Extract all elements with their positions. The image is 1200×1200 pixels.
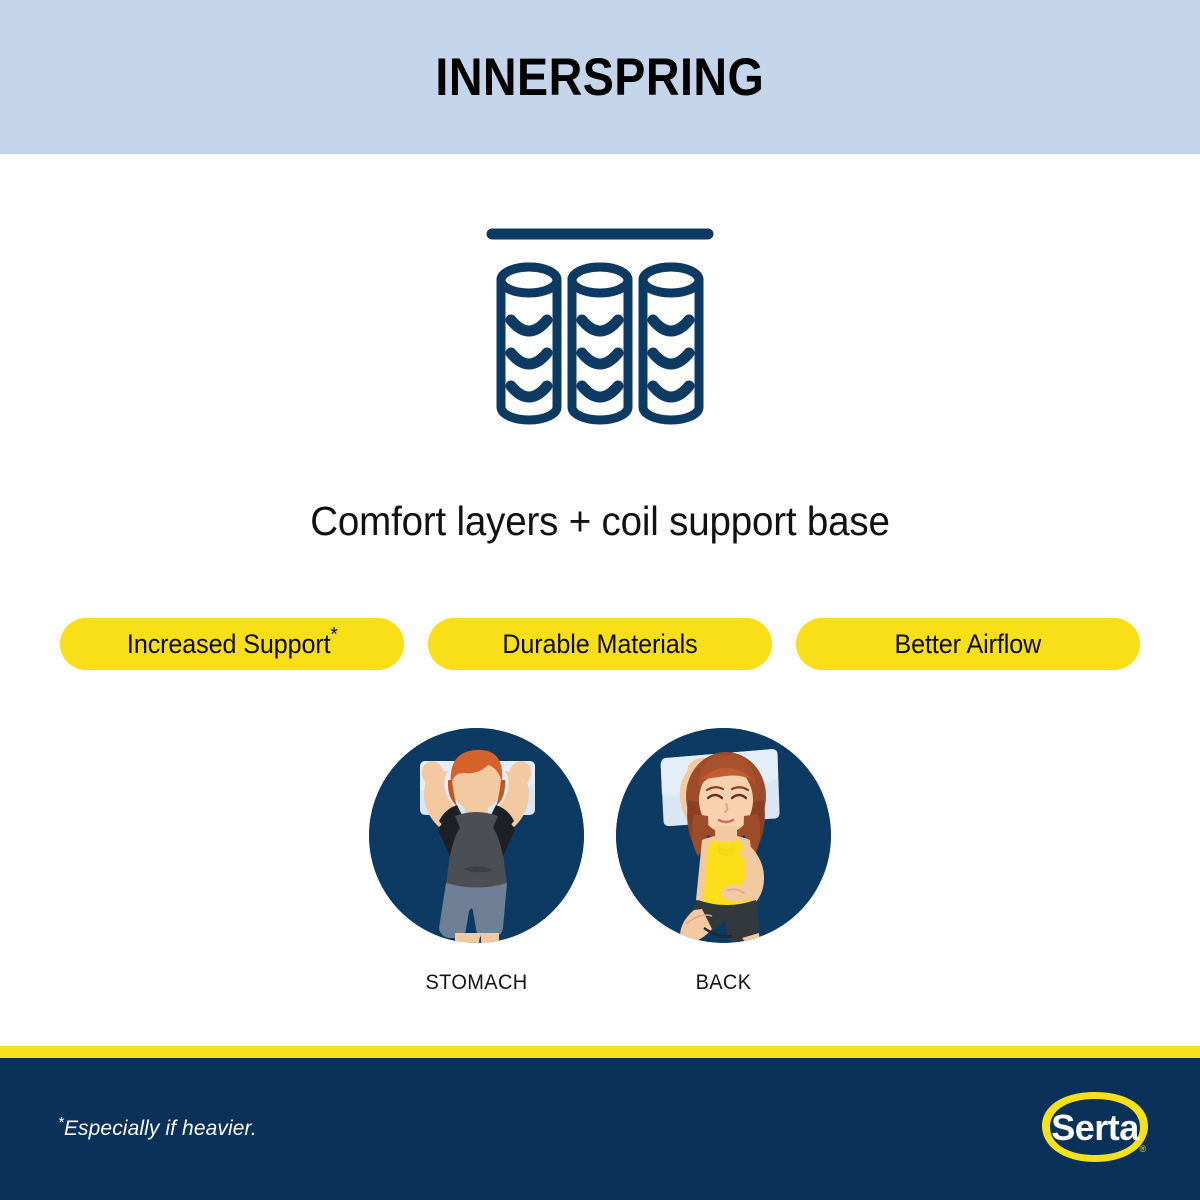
sleep-position-label: STOMACH — [374, 971, 578, 995]
footnote-marker: * — [330, 624, 337, 646]
back-sleeper-illustration — [616, 728, 831, 943]
svg-text:Serta: Serta — [1051, 1107, 1140, 1148]
svg-text:®: ® — [1140, 1144, 1147, 1154]
coil-springs-icon — [484, 225, 716, 440]
feature-pill-label: Increased Support — [127, 629, 331, 659]
page-header: INNERSPRING — [0, 0, 1200, 154]
sleep-position-back[interactable]: BACK — [616, 728, 831, 995]
footnote-text: *Especially if heavier. — [58, 1117, 257, 1141]
feature-pill-better-airflow[interactable]: Better Airflow — [796, 618, 1140, 670]
feature-pill-label: Better Airflow — [895, 629, 1042, 659]
subtitle-text: Comfort layers + coil support base — [36, 498, 1164, 545]
stomach-sleeper-circle — [369, 728, 584, 943]
serta-logo[interactable]: Serta ® — [1036, 1086, 1154, 1174]
back-sleeper-circle — [616, 728, 831, 943]
coil-icon-container — [0, 225, 1200, 440]
sleep-position-stomach[interactable]: STOMACH — [369, 728, 584, 995]
footer-accent-stripe — [0, 1046, 1200, 1058]
feature-pill-durable-materials[interactable]: Durable Materials — [428, 618, 772, 670]
feature-pill-label: Durable Materials — [502, 629, 697, 659]
sleep-position-label: BACK — [621, 971, 825, 995]
stomach-sleeper-illustration — [369, 728, 584, 943]
footnote-label: Especially if heavier. — [64, 1117, 257, 1140]
feature-pill-increased-support[interactable]: Increased Support* — [60, 618, 404, 670]
feature-pill-list: Increased Support* Durable Materials Bet… — [60, 618, 1140, 670]
sleep-position-list: STOMACH — [0, 728, 1200, 995]
page-title: INNERSPRING — [436, 47, 765, 108]
serta-logo-mark: Serta ® — [1036, 1086, 1154, 1174]
